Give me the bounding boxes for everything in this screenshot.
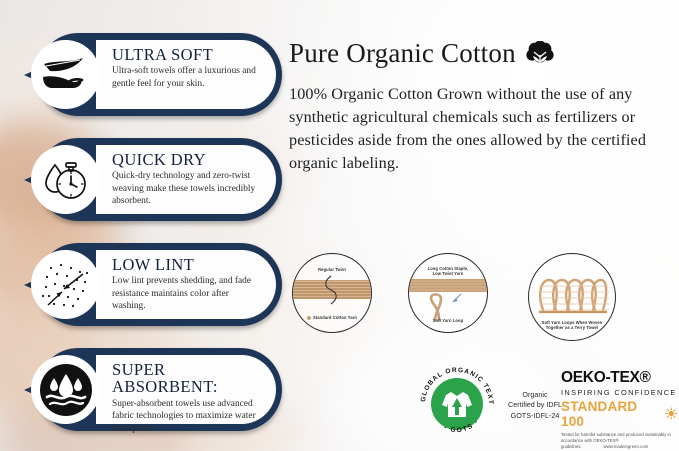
- feature-title: LOW LINT: [112, 256, 262, 273]
- yarn-diagram-group: Regular Twist Standard Cotton Yarn Long …: [286, 250, 666, 338]
- pill-text-area: LOW LINT Low lint prevents shedding, and…: [96, 250, 276, 319]
- body-copy: 100% Organic Cotton Grown without the us…: [289, 83, 661, 175]
- certification-group: GLOBAL ORGANIC TEXTILE STANDARD - GOTS -…: [415, 362, 677, 446]
- hand-feather-icon: [31, 40, 100, 109]
- feature-pill-super-absorbent: SUPER ABSORBENT: Super-absorbent towels …: [24, 348, 282, 431]
- feature-pill-low-lint: LOW LINT Low lint prevents shedding, and…: [24, 243, 282, 326]
- feature-list: ULTRA SOFT Ultra-soft towels offer a lux…: [24, 33, 282, 451]
- pill-text-area: QUICK DRY Quick-dry technology and zero-…: [96, 145, 276, 214]
- feature-pill-quick-dry: QUICK DRY Quick-dry technology and zero-…: [24, 138, 282, 221]
- infographic-canvas: ULTRA SOFT Ultra-soft towels offer a lux…: [0, 0, 679, 451]
- oeko-tex-standard-row: STANDARD 100: [561, 399, 677, 429]
- cotton-boll-icon: [526, 41, 554, 67]
- feature-title: SUPER ABSORBENT:: [112, 361, 262, 396]
- feature-description: Quick-dry technology and zero-twist weav…: [112, 170, 262, 208]
- pill-text-area: ULTRA SOFT Ultra-soft towels offer a lux…: [96, 40, 276, 109]
- yarn-bottom-label: Soft Yarn Loops When Woven Together as a…: [529, 320, 615, 330]
- yarn-top-label: Regular Twist: [293, 267, 371, 272]
- oeko-tex-title: OEKO-TEX®: [561, 370, 677, 386]
- yarn-diagram-regular-twist: Regular Twist Standard Cotton Yarn: [292, 253, 372, 333]
- oeko-tex-fine-print: Tested for harmful substance and produce…: [561, 432, 677, 451]
- gots-seal-icon: GLOBAL ORGANIC TEXTILE STANDARD - GOTS -: [415, 362, 499, 446]
- sun-icon: [665, 407, 678, 420]
- yarn-diagram-terry-loops: Soft Yarn Loops When Woven Together as a…: [528, 253, 616, 341]
- content-column: Pure Organic Cotton 100% Organic Cotton …: [289, 40, 661, 175]
- feature-title: QUICK DRY: [112, 151, 262, 168]
- yarn-bottom-label: Soft Yarn Loop: [409, 318, 487, 323]
- lint-particles-icon: [31, 250, 100, 319]
- twisted-yarn-strand-icon: [293, 254, 371, 332]
- feature-description: Ultra-soft towels offer a luxurious and …: [112, 65, 262, 90]
- yarn-diagram-low-twist: Long Cotton Staple, Low Twist Yarn Soft …: [408, 253, 488, 333]
- yarn-top-label: Long Cotton Staple, Low Twist Yarn: [409, 266, 487, 276]
- oeko-tex-url[interactable]: www.madeingreen.com: [604, 444, 649, 449]
- feature-pill-ultra-soft: ULTRA SOFT Ultra-soft towels offer a lux…: [24, 33, 282, 116]
- oeko-tex-badge: OEKO-TEX® INSPIRING CONFIDENCE STANDARD …: [561, 370, 677, 451]
- oeko-tex-subtitle: INSPIRING CONFIDENCE: [561, 388, 677, 397]
- oeko-tex-standard: STANDARD 100: [561, 399, 661, 429]
- gots-caption: Organic Certified by IDFL GOTS-IDFL-24: [505, 390, 565, 421]
- pill-text-area: SUPER ABSORBENT: Super-absorbent towels …: [96, 355, 276, 424]
- feature-description: Low lint prevents shedding, and fade res…: [112, 275, 262, 313]
- feature-description: Super-absorbent towels use advanced fabr…: [112, 398, 262, 436]
- stopwatch-droplet-icon: [31, 145, 100, 214]
- headline-row: Pure Organic Cotton: [289, 40, 661, 67]
- page-title: Pure Organic Cotton: [289, 40, 516, 67]
- water-droplets-waves-icon: [31, 355, 100, 424]
- feature-title: ULTRA SOFT: [112, 46, 262, 63]
- yarn-bottom-label: Standard Cotton Yarn: [293, 315, 371, 320]
